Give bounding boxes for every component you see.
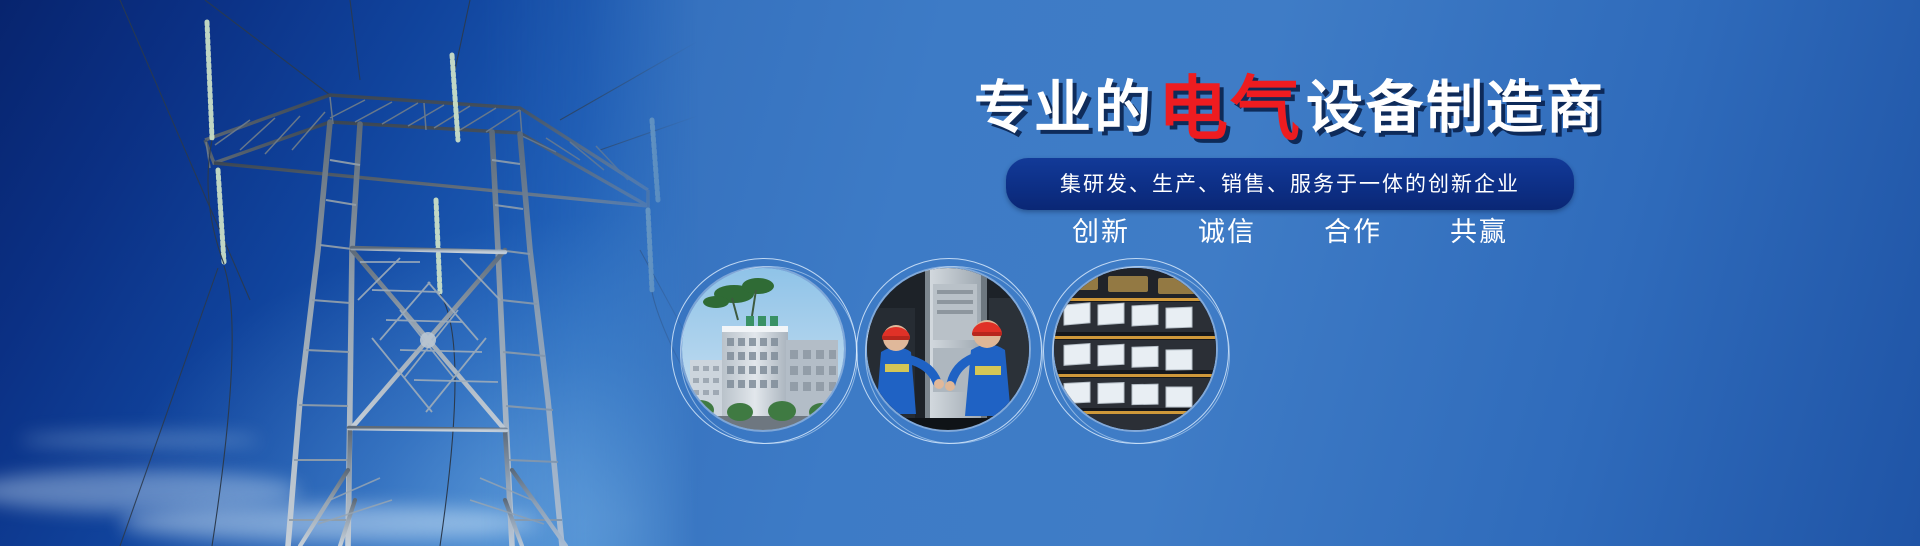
pylon-center-joint: [420, 332, 436, 348]
pylon-structure-icon: [0, 0, 700, 546]
keyword-item: 合作: [1324, 210, 1382, 249]
keyword-item: 诚信: [1198, 210, 1256, 249]
headline-highlight: 电气: [1154, 74, 1306, 144]
banner-content: 专业的电气设备制造商 集研发、生产、销售、服务于一体的创新企业 创新诚信合作共赢: [660, 0, 1920, 546]
hero-banner: 专业的电气设备制造商 集研发、生产、销售、服务于一体的创新企业 创新诚信合作共赢: [0, 0, 1920, 546]
photo-thumbnail-group: [660, 262, 1920, 442]
page-title: 专业的电气设备制造商: [660, 74, 1920, 144]
keyword-item: 创新: [1072, 210, 1130, 249]
photo-thumbnail-workers[interactable]: [853, 262, 1043, 442]
headline-part-2: 设备制造商: [1306, 80, 1606, 137]
keyword-list: 创新诚信合作共赢: [660, 210, 1920, 249]
keyword-item: 共赢: [1450, 210, 1508, 249]
headline-part-1: 专业的: [974, 80, 1154, 137]
subtitle-pill: 集研发、生产、销售、服务于一体的创新企业: [1006, 158, 1574, 210]
photo-thumbnail-office[interactable]: [668, 262, 858, 442]
transmission-tower-photo: [0, 0, 700, 546]
workers-installation-photo: [867, 268, 1029, 430]
office-building-photo: [682, 268, 844, 430]
product-display-photo: [1054, 268, 1216, 430]
photo-thumbnail-products[interactable]: [1040, 262, 1230, 442]
subtitle-pill-label: 集研发、生产、销售、服务于一体的创新企业: [1060, 172, 1520, 196]
